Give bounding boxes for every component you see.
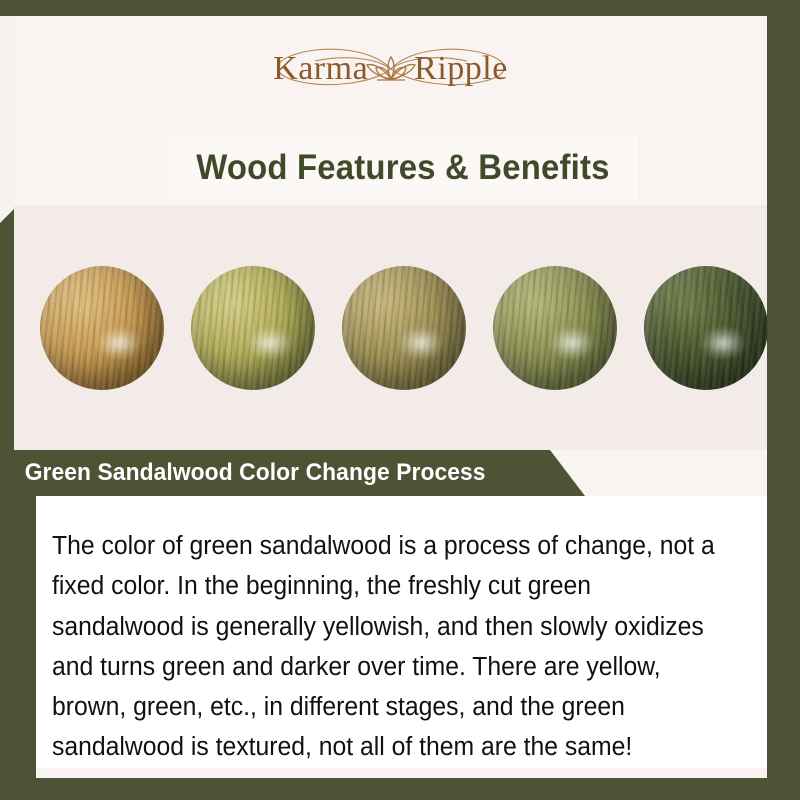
section-banner-label: Green Sandalwood Color Change Process	[0, 459, 486, 487]
body-panel: The color of green sandalwood is a proce…	[36, 496, 767, 768]
bead-strip	[14, 205, 767, 450]
body-paragraph: The color of green sandalwood is a proce…	[52, 526, 718, 768]
brand-name-right: Ripple	[414, 50, 508, 88]
frame-accent-right	[767, 0, 800, 800]
brand-logo: Karma Ripple	[14, 16, 767, 122]
bead-1	[40, 266, 164, 390]
bead-5	[644, 266, 768, 390]
frame-accent-top	[0, 0, 800, 16]
bead-list	[14, 205, 767, 450]
page-title: Wood Features & Benefits	[196, 148, 609, 188]
title-band: Wood Features & Benefits	[168, 137, 638, 199]
frame-accent-bottom	[0, 778, 800, 800]
bead-2	[191, 266, 315, 390]
brand-name-left: Karma	[273, 50, 368, 88]
infographic-page: Karma Ripple Wood Features & Benefits Gr…	[0, 0, 800, 800]
bead-3	[342, 266, 466, 390]
section-banner: Green Sandalwood Color Change Process	[0, 450, 585, 496]
bead-4	[493, 266, 617, 390]
